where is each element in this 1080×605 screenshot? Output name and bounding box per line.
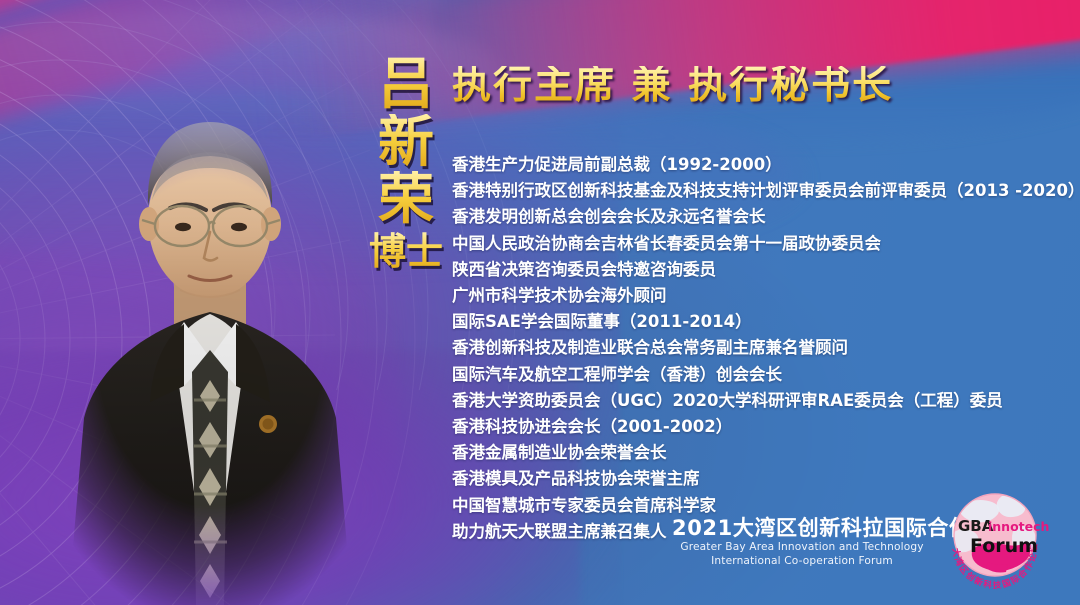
credential-item: 香港特别行政区创新科技基金及科技支持计划评审委员会前评审委员（2013 -202…: [452, 178, 1080, 204]
speaker-degree: 博士: [368, 232, 444, 272]
speaker-role-title: 执行主席 兼 执行秘书长: [452, 66, 893, 105]
credential-item: 中国人民政治协商会吉林省长春委员会第十一届政协委员会: [452, 231, 1080, 257]
speaker-intro-slide: 吕 新 荣 博士 执行主席 兼 执行秘书长 香港生产力促进局前副总裁（1992-…: [0, 0, 1080, 605]
forum-title-en-line1: Greater Bay Area Innovation and Technolo…: [672, 540, 932, 554]
credential-item: 广州市科学技术协会海外顾问: [452, 283, 1080, 309]
credential-item: 陕西省决策咨询委员会特邀咨询委员: [452, 257, 1080, 283]
forum-title-en-line2: International Co-operation Forum: [672, 554, 932, 568]
credential-item: 香港生产力促进局前副总裁（1992-2000）: [452, 152, 1080, 178]
name-char-3: 荣: [368, 171, 444, 229]
speaker-name-vertical: 吕 新 荣 博士: [368, 56, 444, 272]
forum-branding: 2021大湾区创新科拉国际合作论坛 Greater Bay Area Innov…: [672, 516, 932, 568]
credential-item: 香港科技协进会会长（2001-2002）: [452, 414, 1080, 440]
credential-item: 香港金属制造业协会荣誉会长: [452, 440, 1080, 466]
credential-item: 香港大学资助委员会（UGC）2020大学科研评审RAE委员会（工程）委员: [452, 388, 1080, 414]
logo-text-forum: Forum: [970, 535, 1038, 557]
logo-text-innotech: innotech: [988, 519, 1049, 534]
credential-item: 香港发明创新总会创会会长及永远名誉会长: [452, 204, 1080, 230]
forum-title-cn: 2021大湾区创新科拉国际合作论坛: [672, 516, 932, 540]
speaker-portrait: [34, 100, 386, 605]
name-char-2: 新: [368, 114, 444, 172]
name-char-1: 吕: [368, 56, 444, 114]
credential-item: 国际SAE学会国际董事（2011-2014）: [452, 309, 1080, 335]
gba-innotech-forum-logo: 大湾区创新科技国际合作论坛 GBA innotech Forum: [936, 478, 1054, 596]
credential-item: 香港创新科技及制造业联合总会常务副主席兼名誉顾问: [452, 335, 1080, 361]
credential-item: 国际汽车及航空工程师学会（香港）创会会长: [452, 362, 1080, 388]
